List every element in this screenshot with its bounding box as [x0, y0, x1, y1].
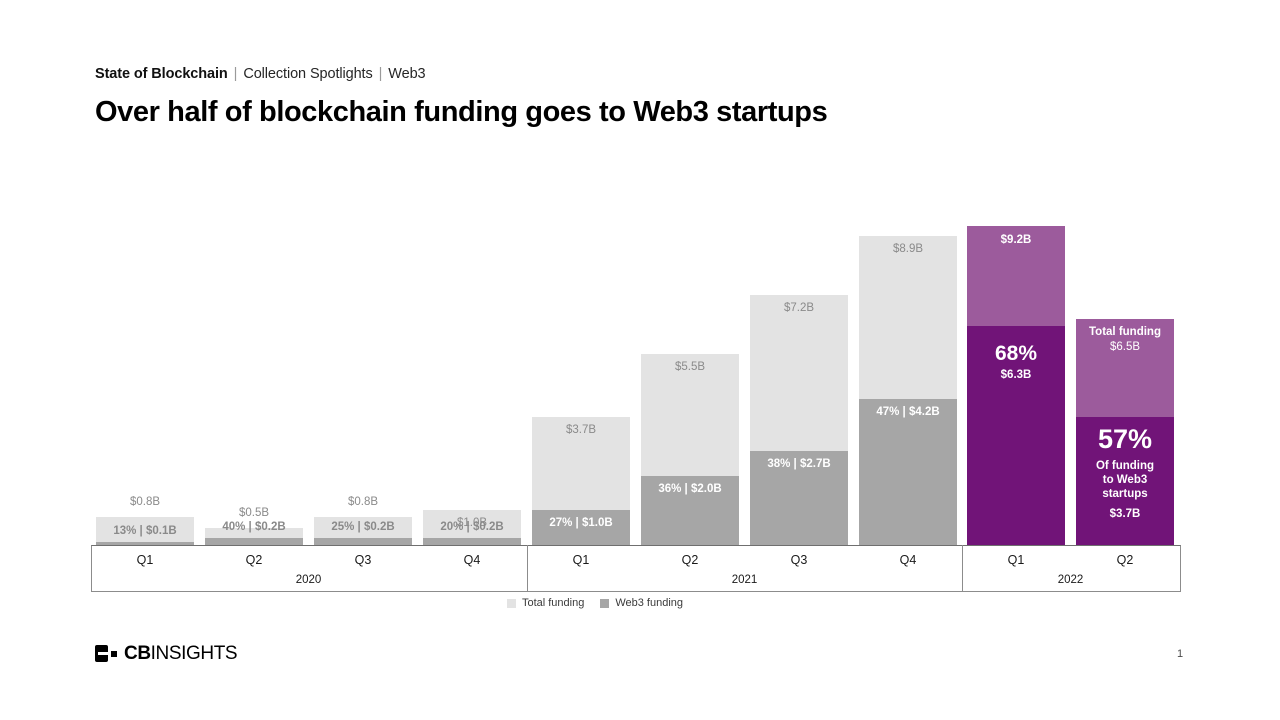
axis-quarter-label-2020-Q3: Q3 — [323, 553, 403, 567]
axis-year-label-2022: 2022 — [1021, 574, 1121, 586]
legend-item-total-funding: Total funding — [507, 597, 584, 609]
axis-quarter-label-2020-Q2: Q2 — [214, 553, 294, 567]
page-number: 1 — [1170, 648, 1190, 660]
bar-callout-2022-Q1: 68%$6.3B — [967, 343, 1065, 381]
slide: State of Blockchain|Collection Spotlight… — [0, 0, 1280, 720]
bar-segment-web3-2021-Q3 — [750, 451, 848, 545]
bar-segment-web3-2021-Q2 — [641, 476, 739, 545]
bar-segment-web3-2020-Q4 — [423, 538, 521, 545]
legend-item-web3-funding: Web3 funding — [600, 597, 683, 609]
bar-segment-total-2021-Q3 — [750, 295, 848, 451]
legend-label-total-funding: Total funding — [522, 597, 584, 609]
cb-insights-logo: CBINSIGHTS — [95, 644, 237, 663]
axis-group-separator — [527, 545, 528, 592]
bar-callout-value-2022-Q1: $6.3B — [967, 369, 1065, 381]
bar-2020-Q3 — [314, 517, 412, 545]
logo-text-bold: CB — [124, 643, 151, 664]
axis-year-label-2020: 2020 — [259, 574, 359, 586]
bar-segment-total-2021-Q4 — [859, 236, 957, 399]
bar-2020-Q1 — [96, 517, 194, 545]
bar-segment-total-2020-Q4 — [423, 510, 521, 538]
bar-callout-text-2022-Q2: Of fundingto Web3startups — [1076, 459, 1174, 502]
bar-callout-pct-2022-Q2: 57% — [1076, 426, 1174, 453]
axis-quarter-label-2020-Q1: Q1 — [105, 553, 185, 567]
bar-label-total-2020-Q1: $0.8B — [96, 496, 194, 508]
bar-label-total-2020-Q2: $0.5B — [205, 507, 303, 519]
bar-segment-web3-2020-Q2 — [205, 538, 303, 545]
bar-callout-total-label-2022-Q2: Total funding — [1076, 326, 1174, 338]
bar-callout-value-2022-Q2: $3.7B — [1076, 508, 1174, 520]
bar-segment-total-2020-Q2 — [205, 528, 303, 538]
bar-2020-Q4 — [423, 510, 521, 545]
bar-segment-web3-2021-Q1 — [532, 510, 630, 545]
logo-text-light: INSIGHTS — [151, 643, 238, 664]
bar-callout-total-value-2022-Q2: $6.5B — [1076, 341, 1174, 353]
legend-swatch-total-funding — [507, 599, 516, 608]
axis-quarter-label-2021-Q4: Q4 — [868, 553, 948, 567]
chart-plot-area: $0.8B13% | $0.1B$0.5B40% | $0.2B$0.8B25%… — [0, 0, 1280, 720]
bar-2021-Q1 — [532, 417, 630, 545]
bar-segment-total-2020-Q1 — [96, 517, 194, 541]
cb-insights-mark-icon — [95, 645, 117, 662]
bar-segment-total-2021-Q1 — [532, 417, 630, 511]
cb-insights-wordmark: CBINSIGHTS — [124, 644, 237, 663]
chart-x-axis: Q1Q2Q3Q42020Q1Q2Q3Q42021Q1Q22022 — [91, 545, 1181, 592]
bar-callout-web3-2022-Q2: 57%Of fundingto Web3startups$3.7B — [1076, 426, 1174, 520]
logo-dot-shape — [111, 651, 117, 657]
bar-segment-web3-2020-Q3 — [314, 538, 412, 545]
bar-segment-total-2020-Q3 — [314, 517, 412, 538]
legend-label-web3-funding: Web3 funding — [615, 597, 683, 609]
bar-callout-pct-2022-Q1: 68% — [967, 343, 1065, 365]
bar-2021-Q4 — [859, 236, 957, 545]
axis-quarter-label-2022-Q1: Q1 — [976, 553, 1056, 567]
bar-segment-web3-2021-Q4 — [859, 399, 957, 545]
axis-quarter-label-2021-Q2: Q2 — [650, 553, 730, 567]
legend-swatch-web3-funding — [600, 599, 609, 608]
axis-year-label-2021: 2021 — [695, 574, 795, 586]
bar-2020-Q2 — [205, 528, 303, 545]
axis-quarter-label-2020-Q4: Q4 — [432, 553, 512, 567]
axis-quarter-label-2022-Q2: Q2 — [1085, 553, 1165, 567]
chart-legend: Total funding Web3 funding — [0, 597, 1190, 609]
logo-slot-shape — [98, 652, 108, 655]
bar-label-total-2020-Q3: $0.8B — [314, 496, 412, 508]
axis-group-separator — [962, 545, 963, 592]
axis-quarter-label-2021-Q3: Q3 — [759, 553, 839, 567]
bar-callout-total-2022-Q2: Total funding$6.5B — [1076, 326, 1174, 353]
bar-2022-Q1 — [967, 226, 1065, 545]
bar-2021-Q3 — [750, 295, 848, 545]
axis-quarter-label-2021-Q1: Q1 — [541, 553, 621, 567]
bar-segment-total-2022-Q1 — [967, 226, 1065, 327]
bar-2021-Q2 — [641, 354, 739, 545]
bar-segment-total-2021-Q2 — [641, 354, 739, 475]
